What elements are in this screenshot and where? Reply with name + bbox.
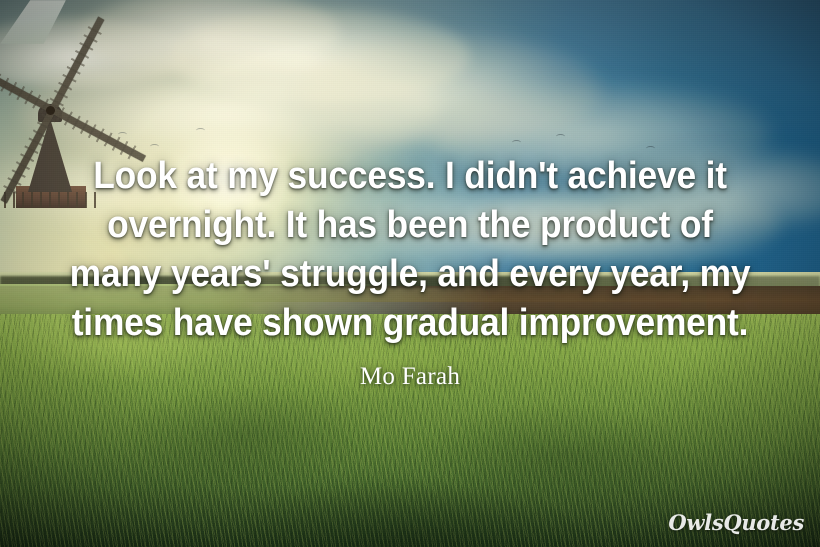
quote-line: times have shown gradual improvement. — [38, 299, 782, 348]
quote-line: overnight. It has been the product of — [38, 201, 782, 250]
quote-line: Look at my success. I didn't achieve it — [38, 152, 782, 201]
windmill-hub — [46, 106, 55, 115]
quote-text: Look at my success. I didn't achieve it … — [38, 152, 782, 348]
quote-line: many years' struggle, and every year, my — [38, 250, 782, 299]
quote-image-card: Look at my success. I didn't achieve it … — [0, 0, 820, 547]
owlsquotes-watermark: OwlsQuotes — [668, 510, 804, 535]
text-content: Look at my success. I didn't achieve it … — [0, 0, 820, 547]
quote-author: Mo Farah — [10, 362, 810, 392]
